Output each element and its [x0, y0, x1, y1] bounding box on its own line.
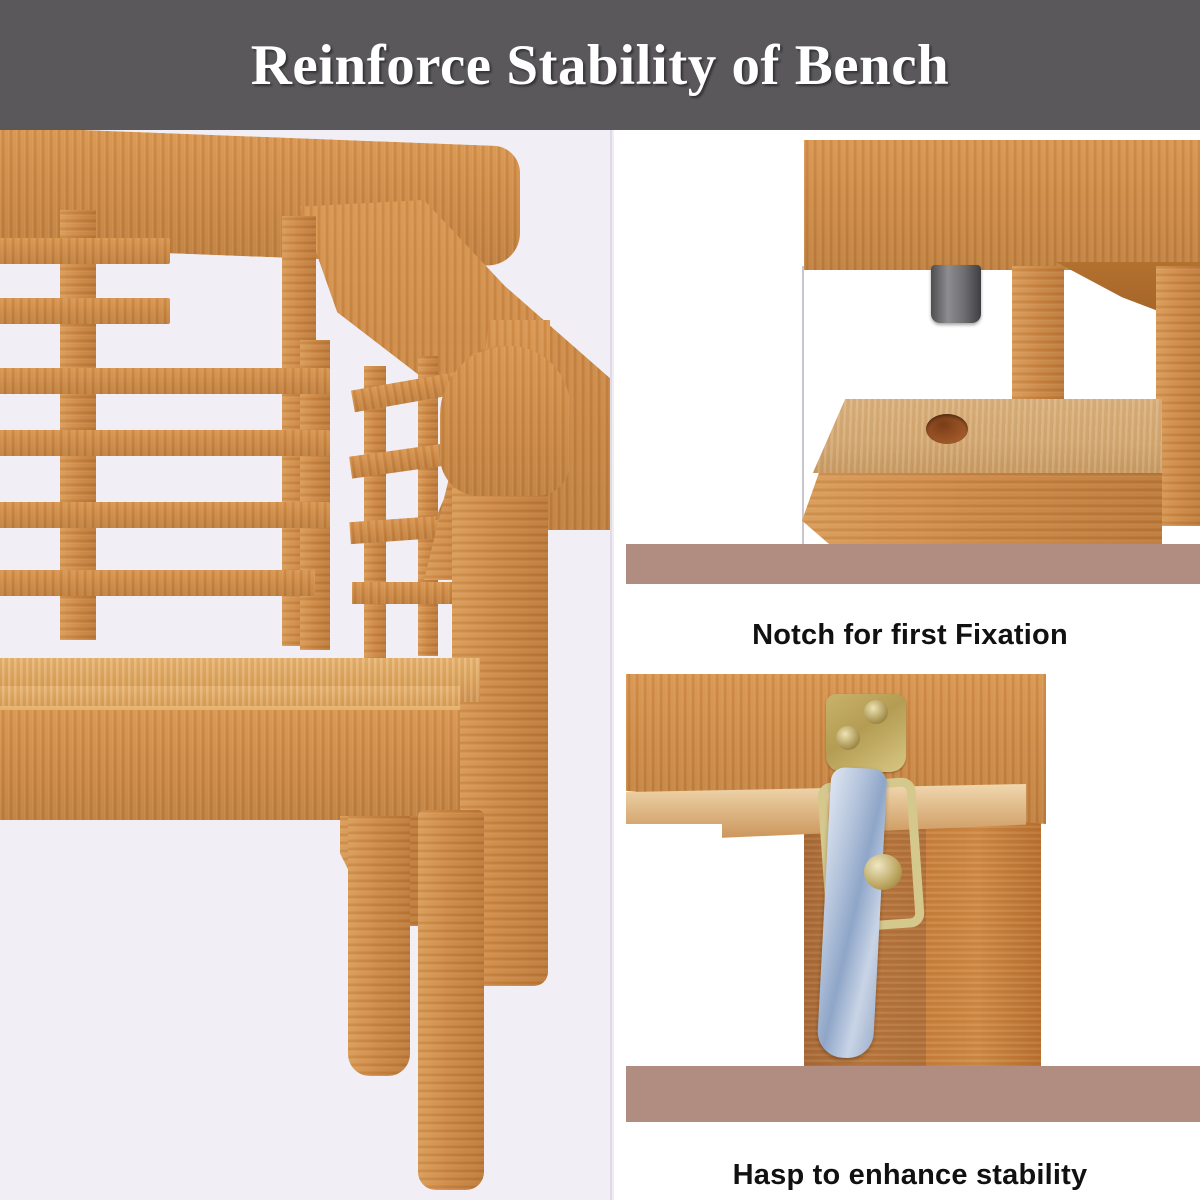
bench-arm-scroll	[440, 346, 570, 496]
screw-icon	[864, 700, 888, 724]
notch-reference-line	[802, 266, 804, 578]
page-title: Reinforce Stability of Bench	[251, 33, 949, 98]
page-header-banner: Reinforce Stability of Bench	[0, 0, 1200, 130]
bench-side-lattice-stile	[418, 356, 438, 656]
metal-dowel-pin-icon	[931, 265, 981, 323]
detail-column: Notch for first Fixation Hasp to enhance…	[614, 130, 1200, 1200]
bench-back-slat	[0, 570, 315, 596]
notch-rear-post	[1156, 266, 1200, 526]
bench-back-slat	[0, 368, 330, 394]
notch-detail-photo	[626, 136, 1200, 584]
bench-front-leg	[418, 810, 484, 1190]
notch-hole	[926, 414, 968, 444]
panel-divider	[610, 130, 612, 1200]
hasp-detail-caption: Hasp to enhance stability	[620, 1159, 1200, 1192]
bench-rear-leg	[348, 816, 410, 1076]
content-stage: Notch for first Fixation Hasp to enhance…	[0, 130, 1200, 1200]
bench-back-slat	[0, 502, 330, 528]
notch-leg-block-top	[802, 399, 1162, 473]
bench-back-slat	[0, 430, 330, 456]
hasp-detail-photo	[626, 674, 1200, 1122]
bench-back-slat	[0, 238, 170, 264]
hasp-pivot-rivet	[864, 854, 902, 890]
screw-icon	[836, 726, 860, 750]
notch-leg-post	[1012, 266, 1064, 401]
floor-strip	[626, 544, 1200, 584]
bench-back-slat	[0, 298, 170, 324]
hasp-detail-card: Hasp to enhance stability	[620, 668, 1200, 1200]
bench-overview-panel	[0, 130, 612, 1200]
bench-illustration	[0, 130, 612, 1200]
photo-whitespace-right	[1056, 674, 1200, 1074]
bench-seat-apron-rail	[0, 710, 460, 820]
floor-strip	[626, 1066, 1200, 1122]
bench-side-lattice-stile	[364, 366, 386, 662]
notch-detail-caption: Notch for first Fixation	[620, 619, 1200, 652]
notch-detail-card: Notch for first Fixation	[620, 130, 1200, 660]
notch-upper-rail	[804, 140, 1200, 270]
